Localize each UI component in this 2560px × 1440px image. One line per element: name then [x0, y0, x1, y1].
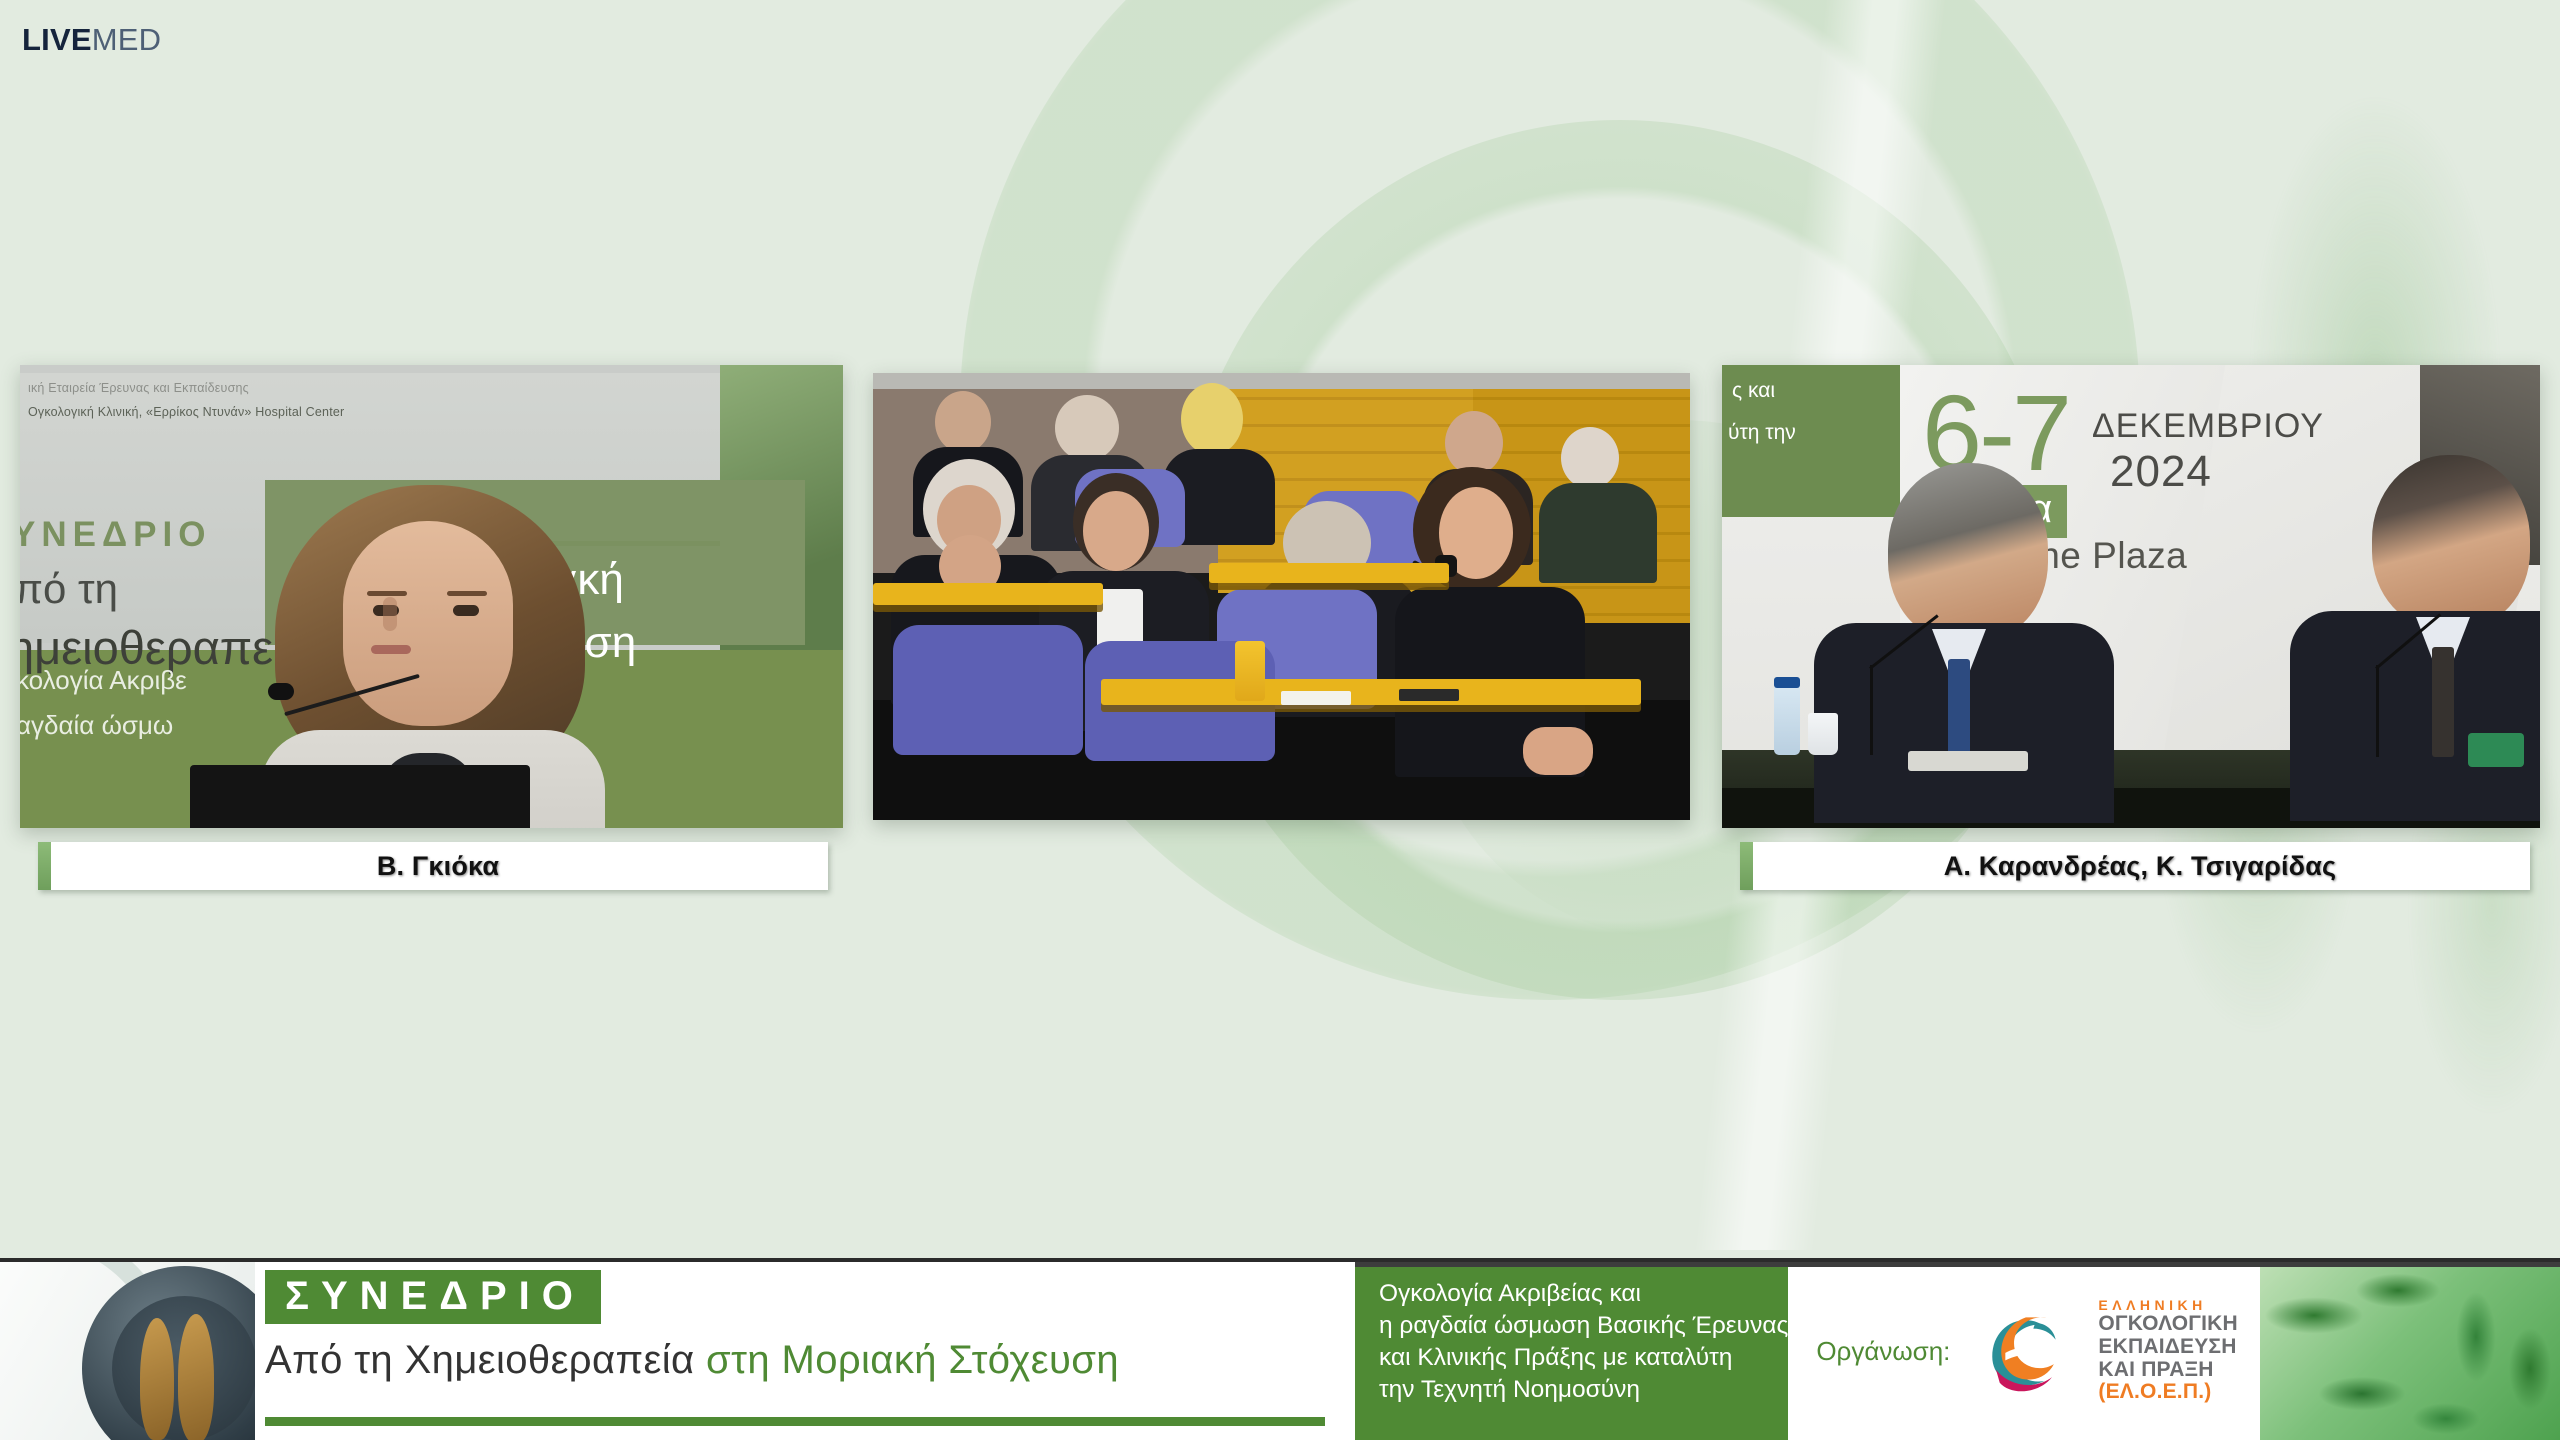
- papers: [1908, 751, 2028, 771]
- bottle-cap: [1774, 677, 1800, 688]
- backdrop-green-line-1: κολογία Ακριβε: [20, 665, 187, 696]
- eye-right: [453, 605, 479, 616]
- tile-2-scene: [873, 373, 1690, 820]
- sculpture-figure-right: [178, 1314, 214, 1440]
- eloep-line-2: ΟΓΚΟΛΟΓΙΚΗ: [2098, 1313, 2238, 1336]
- eloep-line-1: ΕΛΛΗΝΙΚΗ: [2098, 1298, 2238, 1313]
- room-ceiling: [873, 373, 1690, 389]
- tile-1-scene: ική Εταιρεία Έρευνας και Εκπαίδευσης Ογκ…: [20, 365, 843, 828]
- head: [2372, 455, 2530, 630]
- face: [1083, 491, 1149, 571]
- brow-left: [367, 591, 407, 596]
- backdrop-green-text-2: ύτη την: [1728, 421, 1796, 445]
- head: [1055, 395, 1119, 461]
- banner-microscopy-image: [2260, 1262, 2560, 1440]
- suit: [2290, 611, 2540, 821]
- water-bottle: [1774, 683, 1800, 755]
- eloep-line-3: ΕΚΠΑΙΔΕΥΣΗ: [2098, 1336, 2238, 1359]
- hand: [1523, 727, 1593, 775]
- juice-glass: [1235, 641, 1265, 701]
- video-tile-panel[interactable]: ς και ύτη την 6-7 ΔΕΚΕΜΒΡΙΟΥ 2024 Αθήνα …: [1722, 365, 2540, 828]
- banner-organiser-block: Οργάνωση: ΕΛΛΗΝΙΚΗ ΟΓΚΟΛΟΓΙΚΗ ΕΚΠΑΙΔΕΥΣΗ…: [1788, 1262, 2260, 1440]
- paper: [1281, 691, 1351, 705]
- backdrop-heading: ΥΝΕΔΡΙΟ: [20, 515, 211, 555]
- sculpture-figure-left: [140, 1318, 174, 1440]
- banner-chip-synedrio: ΣΥΝΕΔΡΙΟ: [265, 1270, 601, 1324]
- broadcast-stage: LIVEMED ική Εταιρεία Έρευνας και Εκπαίδε…: [0, 0, 2560, 1440]
- speaker-name-text: Α. Καρανδρέας, Κ. Τσιγαρίδας: [1934, 851, 2337, 882]
- head-blonde: [1181, 383, 1243, 455]
- banner-description-line-2: η ραγδαία ώσμωση Βασικής Έρευνας: [1379, 1310, 1788, 1342]
- banner-subtitle: Από τη Χημειοθεραπεία στη Μοριακή Στόχευ…: [265, 1338, 1355, 1383]
- microphone-stand: [1870, 665, 1873, 755]
- head-grey: [1561, 427, 1619, 489]
- speaker-name-bar-right: Α. Καρανδρέας, Κ. Τσιγαρίδας: [1740, 842, 2530, 890]
- phone: [1399, 689, 1459, 701]
- organiser-label: Οργάνωση:: [1816, 1336, 1950, 1367]
- banner-subtitle-dark: Από τη Χημειοθεραπεία: [265, 1338, 706, 1382]
- panelist-left: [1830, 463, 2130, 793]
- device-on-table: [2468, 733, 2524, 767]
- speaker-nose: [383, 597, 397, 631]
- laptop: [190, 765, 530, 828]
- speaker-face: [343, 521, 513, 726]
- eloep-wordmark: ΕΛΛΗΝΙΚΗ ΟΓΚΟΛΟΓΙΚΗ ΕΚΠΑΙΔΕΥΣΗ ΚΑΙ ΠΡΑΞΗ…: [2098, 1298, 2238, 1404]
- video-tile-speaker[interactable]: ική Εταιρεία Έρευνας και Εκπαίδευσης Ογκ…: [20, 365, 843, 828]
- eloep-globe-icon: [1968, 1295, 2080, 1407]
- banner-description-line-1: Ογκολογία Ακριβείας και: [1379, 1278, 1788, 1310]
- banner-description-line-4: την Τεχνητή Νοημοσύνη: [1379, 1374, 1788, 1406]
- head: [1445, 411, 1503, 475]
- glass: [1808, 713, 1838, 755]
- name-bar-accent: [38, 842, 51, 890]
- head: [1888, 463, 2048, 643]
- backdrop-line-1: πό τη: [20, 565, 118, 613]
- backdrop-green-line-2: αγδαία ώσμω: [20, 710, 173, 741]
- eloep-line-4: ΚΑΙ ΠΡΑΞΗ: [2098, 1359, 2238, 1382]
- name-bar-accent: [1740, 842, 1753, 890]
- backdrop-text-faint: ική Εταιρεία Έρευνας και Εκπαίδευσης: [28, 381, 249, 395]
- speaker-name-text: Β. Γκιόκα: [367, 851, 499, 882]
- speaker-mouth: [371, 645, 411, 654]
- video-tile-audience[interactable]: [873, 373, 1690, 820]
- head: [935, 391, 991, 453]
- conference-banner: ΣΥΝΕΔΡΙΟ Από τη Χημειοθεραπεία στη Μορια…: [0, 1258, 2560, 1440]
- speaker-name-bar-left: Β. Γκιόκα: [38, 842, 828, 890]
- banner-underline: [265, 1417, 1325, 1426]
- event-month: ΔΕΚΕΜΒΡΙΟΥ: [2092, 407, 2324, 446]
- banner-subtitle-green: στη Μοριακή Στόχευση: [706, 1338, 1119, 1382]
- microphone-stand: [2376, 665, 2379, 757]
- logo-light-text: MED: [92, 22, 162, 57]
- logo-bold-text: LIVE: [22, 22, 92, 57]
- backdrop-green-text-1: ς και: [1732, 379, 1775, 403]
- banner-sculpture-image: [0, 1262, 255, 1440]
- microphone-head: [268, 683, 294, 700]
- desk: [873, 583, 1103, 605]
- backdrop-text-clinic: Ογκολογική Κλινική, «Ερρίκος Ντυνάν» Hos…: [28, 405, 344, 419]
- desk: [1209, 563, 1449, 583]
- banner-description-block: Ογκολογία Ακριβείας και η ραγδαία ώσμωση…: [1355, 1262, 1788, 1440]
- necktie: [2432, 647, 2454, 757]
- livemed-logo: LIVEMED: [22, 24, 161, 55]
- torso: [1539, 483, 1657, 583]
- eloep-line-5: (ΕΛ.Ο.Ε.Π.): [2098, 1381, 2238, 1404]
- banner-description-line-3: και Κλινικής Πράξης με καταλύτη: [1379, 1342, 1788, 1374]
- banner-title-block: ΣΥΝΕΔΡΙΟ Από τη Χημειοθεραπεία στη Μορια…: [255, 1262, 1355, 1440]
- tile-3-scene: ς και ύτη την 6-7 ΔΕΚΕΜΒΡΙΟΥ 2024 Αθήνα …: [1722, 365, 2540, 828]
- brow-right: [447, 591, 487, 596]
- chair: [893, 625, 1083, 755]
- desk: [1101, 679, 1641, 705]
